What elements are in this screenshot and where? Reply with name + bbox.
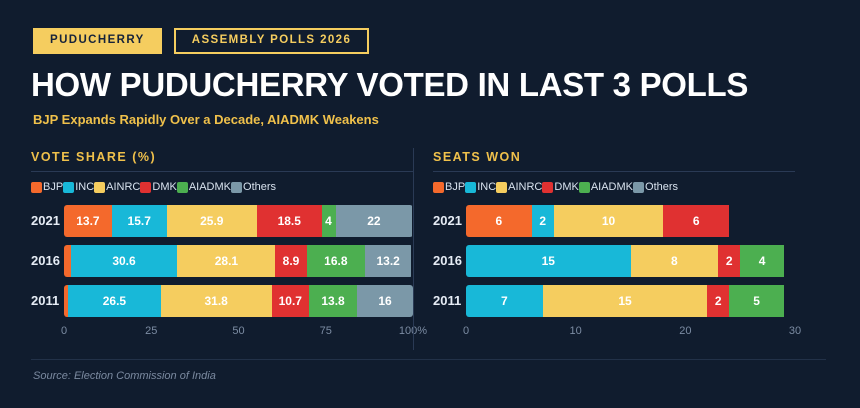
stacked-bar: 26.531.810.713.816 [64,285,413,317]
x-axis: 0102030 [466,325,795,343]
legend-swatch-icon [579,182,590,193]
row-year-label: 2021 [433,205,462,237]
chart-row: 201630.628.18.916.813.2 [31,245,413,277]
bar-segment-inc[interactable]: 7 [466,285,543,317]
panel-divider [31,171,413,172]
source-note: Source: Election Commission of India [33,370,216,382]
legend-swatch-icon [633,182,644,193]
panel-title-vote-share: VOTE SHARE (%) [31,150,413,164]
legend-swatch-icon [31,182,42,193]
legend-label: Others [645,182,678,193]
footer-divider [31,359,826,360]
stacked-bar: 30.628.18.916.813.2 [64,245,413,277]
legend-label: AINRC [106,182,140,193]
bar-segment-aiadmk[interactable]: 4 [322,205,336,237]
axis-tick-label: 50 [232,325,244,337]
bar-segment-inc[interactable]: 2 [532,205,554,237]
stacked-bar: 15824 [466,245,795,277]
legend-swatch-icon [177,182,188,193]
stacked-bar: 13.715.725.918.5422 [64,205,413,237]
legend-item-dmk[interactable]: DMK [140,182,176,193]
bar-segment-dmk[interactable]: 10.7 [272,285,309,317]
legend-label: BJP [43,182,63,193]
bar-segment-bjp[interactable] [64,245,71,277]
axis-tick-label: 30 [789,325,801,337]
bar-segment-bjp[interactable]: 6 [466,205,532,237]
legend-swatch-icon [140,182,151,193]
bar-segment-inc[interactable]: 30.6 [71,245,178,277]
panel-vote-share: VOTE SHARE (%) BJPINCAINRCDMKAIADMKOther… [31,150,413,343]
panel-seats-won: SEATS WON BJPINCAINRCDMKAIADMKOthers 202… [413,150,795,343]
axis-tick-label: 0 [463,325,469,337]
header-badges: PUDUCHERRY ASSEMBLY POLLS 2026 [33,28,369,54]
row-year-label: 2011 [31,285,59,317]
row-year-label: 2016 [433,245,462,277]
legend-label: AIADMK [189,182,231,193]
chart-row: 202162106 [433,205,795,237]
x-axis: 0255075100% [64,325,413,343]
bar-segment-ainrc[interactable]: 10 [554,205,664,237]
bar-segment-aiadmk[interactable]: 4 [740,245,784,277]
page-title: HOW PUDUCHERRY VOTED IN LAST 3 POLLS [31,66,748,104]
legend-swatch-icon [465,182,476,193]
legend-label: BJP [445,182,465,193]
page-subtitle: BJP Expands Rapidly Over a Decade, AIADM… [33,112,379,127]
legend-label: DMK [554,182,578,193]
bar-segment-dmk[interactable]: 8.9 [275,245,306,277]
row-year-label: 2016 [31,245,60,277]
axis-tick-label: 0 [61,325,67,337]
bar-segment-dmk[interactable]: 2 [718,245,740,277]
axis-tick-label: 25 [145,325,157,337]
stacked-bar: 62106 [466,205,795,237]
bar-segment-aiadmk[interactable]: 13.8 [309,285,357,317]
legend-item-inc[interactable]: INC [465,182,496,193]
bar-segment-bjp[interactable]: 13.7 [64,205,112,237]
row-year-label: 2021 [31,205,60,237]
legend-label: INC [477,182,496,193]
bar-segment-aiadmk[interactable]: 16.8 [307,245,366,277]
bar-segment-ainrc[interactable]: 15 [543,285,708,317]
bar-empty-space [729,205,795,237]
bar-segment-dmk[interactable]: 2 [707,285,729,317]
bar-segment-others[interactable]: 16 [357,285,413,317]
chart-row: 202113.715.725.918.5422 [31,205,413,237]
bar-empty-space [784,245,795,277]
axis-tick-label: 75 [320,325,332,337]
chart-seats-won: 2021621062016158242011715250102030 [433,205,795,343]
legend-label: AINRC [508,182,542,193]
legend-seats-won: BJPINCAINRCDMKAIADMKOthers [433,181,795,194]
chart-vote-share: 202113.715.725.918.5422201630.628.18.916… [31,205,413,343]
stacked-bar: 71525 [466,285,795,317]
bar-segment-ainrc[interactable]: 31.8 [161,285,272,317]
bar-empty-space [784,285,795,317]
chart-row: 201171525 [433,285,795,317]
bar-segment-ainrc[interactable]: 28.1 [177,245,275,277]
legend-item-aiadmk[interactable]: AIADMK [177,182,231,193]
panel-divider [433,171,795,172]
legend-swatch-icon [496,182,507,193]
chart-row: 201126.531.810.713.816 [31,285,413,317]
legend-item-inc[interactable]: INC [63,182,94,193]
legend-label: Others [243,182,276,193]
badge-event: ASSEMBLY POLLS 2026 [174,28,370,54]
badge-location: PUDUCHERRY [33,28,162,54]
bar-segment-inc[interactable]: 26.5 [68,285,160,317]
legend-swatch-icon [433,182,444,193]
legend-swatch-icon [94,182,105,193]
bar-segment-ainrc[interactable]: 8 [631,245,719,277]
legend-vote-share: BJPINCAINRCDMKAIADMKOthers [31,181,413,194]
bar-segment-others[interactable]: 13.2 [365,245,411,277]
bar-segment-inc[interactable]: 15 [466,245,631,277]
legend-label: DMK [152,182,176,193]
legend-item-ainrc[interactable]: AINRC [496,182,542,193]
legend-swatch-icon [63,182,74,193]
legend-swatch-icon [231,182,242,193]
bar-segment-aiadmk[interactable]: 5 [729,285,784,317]
legend-item-dmk[interactable]: DMK [542,182,578,193]
axis-tick-label: 20 [679,325,691,337]
axis-tick-label: 10 [570,325,582,337]
legend-label: AIADMK [591,182,633,193]
bar-segment-dmk[interactable]: 6 [663,205,729,237]
bar-segment-dmk[interactable]: 18.5 [257,205,322,237]
legend-item-others[interactable]: Others [231,182,276,193]
panel-title-seats-won: SEATS WON [433,150,795,164]
bar-segment-ainrc[interactable]: 25.9 [167,205,257,237]
legend-label: INC [75,182,94,193]
row-year-label: 2011 [433,285,461,317]
bar-segment-others[interactable]: 22 [336,205,413,237]
legend-item-others[interactable]: Others [633,182,678,193]
bar-segment-inc[interactable]: 15.7 [112,205,167,237]
legend-item-bjp[interactable]: BJP [31,182,63,193]
legend-item-ainrc[interactable]: AINRC [94,182,140,193]
chart-row: 201615824 [433,245,795,277]
legend-swatch-icon [542,182,553,193]
legend-item-bjp[interactable]: BJP [433,182,465,193]
legend-item-aiadmk[interactable]: AIADMK [579,182,633,193]
